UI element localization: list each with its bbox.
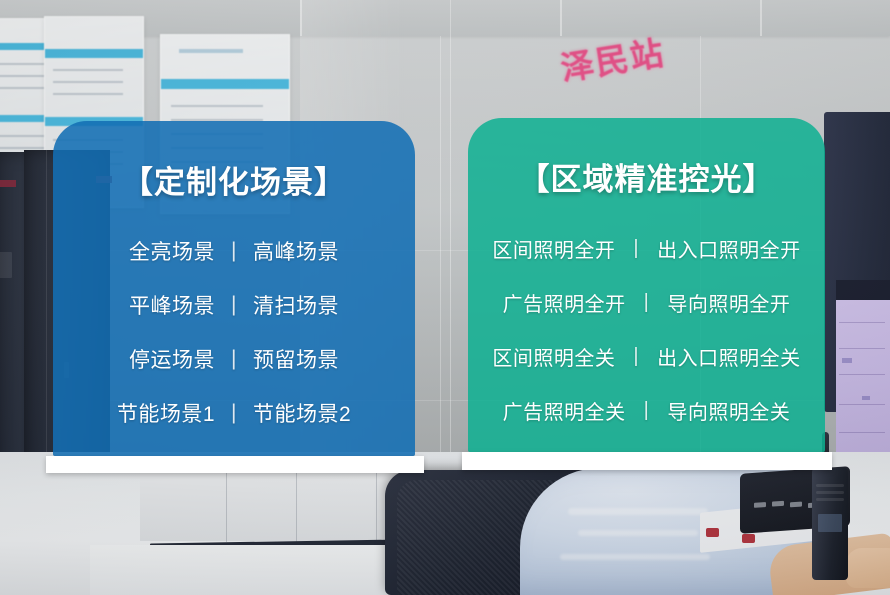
scene-button-list-zone: 区间照明全开 | 出入口照明全开 广告照明全开 | 导向照明全开 区间照明全关 … bbox=[468, 221, 825, 437]
scene-button-guide-lighting-all-on[interactable]: 导向照明全开 bbox=[667, 288, 790, 317]
row-separator: | bbox=[231, 239, 237, 263]
row-separator: | bbox=[231, 347, 237, 371]
scene-button-entrance-lighting-all-off[interactable]: 出入口照明全关 bbox=[657, 342, 801, 371]
scene-button-list-custom: 全亮场景 | 高峰场景 平峰场景 | 清扫场景 停运场景 | 预留场景 节能场景… bbox=[53, 224, 415, 440]
scene-button-advertising-lighting-all-on[interactable]: 广告照明全开 bbox=[503, 288, 626, 317]
scene-row: 广告照明全开 | 导向照明全开 bbox=[468, 275, 825, 329]
scene-row: 区间照明全开 | 出入口照明全开 bbox=[468, 221, 825, 275]
scene-row: 区间照明全关 | 出入口照明全关 bbox=[468, 329, 825, 383]
panel-base-bar-zone-lighting bbox=[462, 452, 832, 470]
panel-base-bar-custom-scenes bbox=[46, 456, 424, 473]
scene-row: 停运场景 | 预留场景 bbox=[53, 332, 415, 386]
panel-title-custom-scenes: 【定制化场景】 bbox=[122, 157, 346, 202]
scene-button-guide-lighting-all-off[interactable]: 导向照明全关 bbox=[667, 396, 790, 425]
scene-button-reserved[interactable]: 预留场景 bbox=[253, 344, 339, 374]
scene-row: 全亮场景 | 高峰场景 bbox=[53, 224, 415, 278]
desk-seam bbox=[296, 470, 297, 542]
operator-hand bbox=[846, 548, 890, 588]
scene-button-section-lighting-all-on[interactable]: 区间照明全开 bbox=[492, 234, 615, 263]
scene-button-full-bright[interactable]: 全亮场景 bbox=[129, 236, 215, 266]
scene-button-shutdown[interactable]: 停运场景 bbox=[129, 344, 215, 374]
scene-row: 广告照明全关 | 导向照明全关 bbox=[468, 383, 825, 437]
row-separator: | bbox=[231, 293, 237, 317]
ceiling-seam bbox=[560, 0, 562, 36]
row-separator: | bbox=[644, 291, 650, 314]
scene-button-section-lighting-all-off[interactable]: 区间照明全关 bbox=[492, 342, 615, 371]
scene-row: 节能场景1 | 节能场景2 bbox=[53, 386, 415, 440]
scene-button-offpeak[interactable]: 平峰场景 bbox=[129, 290, 215, 320]
scene-button-energy-saving-2[interactable]: 节能场景2 bbox=[253, 398, 351, 428]
row-separator: | bbox=[231, 401, 237, 425]
desk-seam bbox=[376, 470, 377, 542]
panel-title-zone-lighting: 【区域精准控光】 bbox=[519, 154, 775, 199]
console-button bbox=[706, 528, 719, 537]
desk-seam bbox=[226, 470, 227, 542]
row-separator: | bbox=[633, 345, 639, 368]
scene-row: 平峰场景 | 清扫场景 bbox=[53, 278, 415, 332]
console-button bbox=[742, 534, 755, 543]
scene-button-cleaning[interactable]: 清扫场景 bbox=[253, 290, 339, 320]
row-separator: | bbox=[644, 399, 650, 422]
scene-button-peak[interactable]: 高峰场景 bbox=[253, 236, 339, 266]
panel-custom-scenes: 【定制化场景】 全亮场景 | 高峰场景 平峰场景 | 清扫场景 停运场景 | 预… bbox=[53, 121, 415, 456]
scene-button-advertising-lighting-all-off[interactable]: 广告照明全关 bbox=[503, 396, 626, 425]
row-separator: | bbox=[633, 237, 639, 260]
panel-zone-precise-lighting: 【区域精准控光】 区间照明全开 | 出入口照明全开 广告照明全开 | 导向照明全… bbox=[468, 118, 825, 452]
handheld-radio bbox=[812, 468, 848, 580]
wall-seam bbox=[440, 36, 441, 470]
scene-button-energy-saving-1[interactable]: 节能场景1 bbox=[117, 398, 215, 428]
screenshot-root: 泽民站 bbox=[0, 0, 890, 595]
scene-button-entrance-lighting-all-on[interactable]: 出入口照明全开 bbox=[657, 234, 801, 263]
monitor-bezel bbox=[836, 280, 890, 302]
ceiling-seam bbox=[760, 0, 762, 36]
